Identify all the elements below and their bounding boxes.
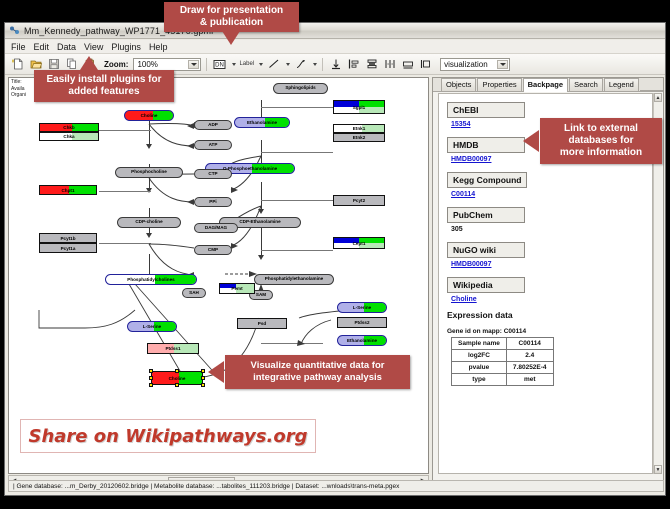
line-dropdown[interactable] [284, 63, 290, 66]
resize-handle-n[interactable] [175, 369, 179, 373]
db-wikipedia-header: Wikipedia [447, 277, 525, 293]
node-etnk1[interactable]: Etnk1 [333, 124, 385, 133]
pemt-swatch-blue [220, 284, 236, 288]
db-pubchem-value: 305 [451, 226, 644, 233]
tab-objects[interactable]: Objects [441, 78, 476, 91]
annotation-visualize-line1: Visualize quantitative data for [251, 360, 385, 372]
node-label: CDP-choline [135, 220, 162, 225]
expr-key: log2FC [452, 350, 507, 362]
node-label: PPi [209, 200, 216, 205]
ptdss1-swatch [174, 344, 198, 353]
edge [261, 182, 262, 212]
status-bar: | Gene database: ...m_Derby_20120602.bri… [8, 480, 664, 492]
node-label: SAH [189, 291, 199, 296]
table-row: type met [452, 374, 554, 386]
interaction-icon[interactable] [293, 57, 308, 72]
screenshot-root: Mm_Kennedy_pathway_WP1771_45176.gpml Fil… [0, 0, 670, 509]
side-panel-tabs[interactable]: Objects Properties Backpage Search Legen… [433, 78, 663, 92]
annotation-plugins-arrow [80, 56, 98, 70]
node-ppi[interactable]: PPi [194, 197, 232, 207]
node-cdp-choline[interactable]: CDP-choline [117, 217, 181, 228]
annotation-draw-arrow [222, 31, 240, 45]
db-kegg-link[interactable]: C00114 [451, 191, 644, 198]
annotation-share: Share on Wikipathways.org [20, 419, 316, 453]
annotation-links-line2: databases for [568, 135, 633, 147]
node-label: SAM [256, 293, 266, 298]
node-pcyt1b[interactable]: Pcyt1b [39, 233, 97, 243]
menu-item-plugins[interactable]: Plugins [111, 42, 141, 52]
tab-legend[interactable]: Legend [604, 78, 639, 91]
node-label: CDP-Ethanolamine [239, 220, 280, 225]
db-pubchem-header: PubChem [447, 207, 525, 223]
edge [261, 152, 333, 153]
chevron-down-icon[interactable] [188, 60, 199, 69]
expr-key: pvalue [452, 362, 507, 374]
chka-swatch [72, 133, 98, 140]
line-icon[interactable] [266, 57, 281, 72]
choline-selected-swatch [179, 372, 202, 384]
node-sgpl1[interactable]: Sgpl1 [333, 100, 385, 114]
pathway-meta: Title: Availa Organi [11, 79, 26, 99]
node-cept1[interactable]: Cept1 [333, 237, 385, 249]
edge [99, 243, 151, 244]
expr-key: Sample name [452, 338, 507, 350]
stack-vertical-icon[interactable] [364, 57, 379, 72]
svg-text:DN: DN [216, 62, 225, 68]
edge [99, 130, 151, 131]
node-label: CTP [208, 172, 217, 177]
zoom-label: Zoom: [104, 60, 128, 69]
annotation-draw-line2: & publication [200, 17, 263, 29]
cept1-swatch-blue [334, 238, 359, 243]
resize-handle-sw[interactable] [149, 383, 153, 387]
etnk1-swatch [362, 125, 385, 132]
db-chebi-header: ChEBI [447, 102, 525, 118]
node-pcyt2[interactable]: Pcyt2 [333, 195, 385, 206]
resize-handle-se[interactable] [201, 383, 205, 387]
node-phosphocholine[interactable]: Phosphocholine [115, 167, 183, 178]
chkb-swatch [72, 124, 98, 131]
meta-organism: Organi [11, 92, 26, 99]
annotation-links-line1: Link to external [564, 123, 638, 135]
node-label: Etnk2 [334, 136, 384, 141]
app-icon [9, 25, 20, 36]
annotation-visualize-arrow [208, 361, 224, 383]
gene-id-on-mapp: Gene id on mapp: C00114 [447, 328, 644, 335]
toolbar-separator-2 [322, 58, 323, 71]
node-ethanolamine-top[interactable]: Ethanolamine [234, 117, 290, 128]
db-nugo-header: NuGO wiki [447, 242, 525, 258]
annotation-plugins-line1: Easily install plugins for [46, 74, 161, 86]
node-lserine-left[interactable]: L-Serine [127, 321, 177, 332]
node-etnk2[interactable]: Etnk2 [333, 133, 385, 142]
align-left-icon[interactable] [346, 57, 361, 72]
status-text: | Gene database: ...m_Derby_20120602.bri… [13, 483, 399, 490]
ophospho-swatch [252, 164, 294, 173]
visualization-combo[interactable]: visualization [440, 58, 510, 71]
edge [261, 107, 333, 108]
menu-bar[interactable]: File Edit Data View Plugins Help [5, 40, 665, 54]
annotation-visualize: Visualize quantitative data for integrat… [225, 355, 410, 389]
tab-backpage[interactable]: Backpage [523, 78, 568, 92]
menu-item-data[interactable]: Data [57, 42, 76, 52]
node-label: Phosphatidylethanolamine [265, 277, 323, 282]
zoom-combo[interactable]: 100% [133, 58, 201, 71]
label-tool-text: Label [239, 61, 254, 67]
node-sah[interactable]: SAH [182, 288, 206, 298]
node-phosphatidylethanolamine[interactable]: Phosphatidylethanolamine [254, 274, 334, 285]
resize-handle-e[interactable] [201, 376, 205, 380]
lserine-right-swatch [364, 303, 386, 312]
node-label: ATP [209, 143, 218, 148]
node-phosphatidylcholines[interactable]: Phosphatidylcholines [105, 274, 197, 285]
node-sphingolipids[interactable]: Sphingolipids [273, 83, 328, 94]
expression-data-header: Expression data [447, 310, 644, 320]
menu-item-file[interactable]: File [11, 42, 26, 52]
same-height-icon[interactable] [418, 57, 433, 72]
node-ptdss1[interactable]: Ptdss1 [147, 343, 199, 354]
node-label: Pcyt2 [334, 199, 384, 204]
new-file-icon[interactable] [10, 57, 25, 72]
node-label: Pcyt1a [40, 247, 96, 252]
sgpl1-swatch-blue [334, 101, 359, 107]
toolbar-separator [206, 58, 207, 71]
chevron-down-icon-2[interactable] [497, 60, 508, 69]
sgpl1-swatch-lightgreen [359, 107, 384, 113]
menu-item-help[interactable]: Help [149, 42, 168, 52]
db-kegg-header: Kegg Compound [447, 172, 527, 188]
annotation-links-line3: more information [560, 147, 642, 159]
node-chpt1[interactable]: Chpt1 [39, 185, 97, 195]
node-label: Ptdss2 [338, 321, 386, 326]
node-ethanolamine-bottom[interactable]: Ethanolamine [337, 335, 387, 346]
menu-item-view[interactable]: View [84, 42, 103, 52]
tab-search[interactable]: Search [569, 78, 603, 91]
annotation-links-arrow [523, 130, 539, 152]
node-adp[interactable]: ADP [194, 120, 232, 130]
visualization-value: visualization [444, 60, 488, 69]
node-choline-top[interactable]: Choline [124, 110, 174, 121]
edge [261, 250, 333, 251]
node-label: DAG/MAG [205, 226, 227, 231]
db-wikipedia-link[interactable]: Choline [451, 296, 644, 303]
node-dagmag[interactable]: DAG/MAG [194, 223, 238, 233]
node-label: Pcyt1b [40, 237, 96, 242]
edge-arrow [146, 144, 152, 149]
edge [261, 200, 333, 201]
expr-value: 7.80252E-4 [506, 362, 553, 374]
lserine-left-swatch [154, 322, 176, 331]
tab-properties[interactable]: Properties [477, 78, 521, 91]
node-atp[interactable]: ATP [194, 140, 232, 150]
node-label: ADP [208, 123, 218, 128]
pemt-swatch-lightgreen [236, 284, 254, 293]
edge [261, 343, 323, 344]
ethanolamine-swatch-green [265, 118, 289, 127]
node-psd[interactable]: Psd [237, 318, 287, 329]
annotation-links: Link to external databases for more info… [540, 118, 662, 164]
expr-value: C00114 [506, 338, 553, 350]
node-pemt[interactable]: Pemt [219, 283, 255, 294]
db-nugo-link[interactable]: HMDB00097 [451, 261, 644, 268]
node-cmp[interactable]: CMP [194, 245, 232, 255]
selection-group[interactable]: Choline [151, 371, 203, 385]
edge-arrow [146, 233, 152, 238]
scroll-down-icon[interactable]: ▼ [654, 465, 662, 474]
label-dropdown[interactable] [257, 63, 263, 66]
edge-arrow [258, 255, 264, 260]
tabbar-filler [640, 89, 663, 91]
edge [99, 191, 151, 192]
node-ctp[interactable]: CTP [194, 169, 232, 179]
same-width-icon[interactable] [400, 57, 415, 72]
node-label: Phosphocholine [131, 170, 167, 175]
choline-swatch-green [153, 111, 173, 120]
resize-handle-ne[interactable] [201, 369, 205, 373]
node-chka[interactable]: Chka [39, 132, 99, 141]
zoom-value: 100% [137, 60, 157, 69]
cept1-swatch-lightgreen [359, 243, 384, 248]
resize-handle-w[interactable] [149, 376, 153, 380]
chpt1-swatch [69, 186, 96, 194]
edge [261, 228, 262, 258]
datanode-icon[interactable]: DN [212, 57, 227, 72]
edge-arrow [258, 209, 264, 214]
edge [149, 120, 150, 146]
node-label: Psd [238, 322, 286, 327]
ptdcholine-swatch [155, 275, 196, 284]
table-row: log2FC 2.4 [452, 350, 554, 362]
node-label: CMP [208, 248, 218, 253]
node-ptdss2[interactable]: Ptdss2 [337, 317, 387, 328]
expr-key: type [452, 374, 507, 386]
align-top-icon[interactable] [328, 57, 343, 72]
annotation-plugins-line2: added features [68, 86, 139, 98]
node-chkb[interactable]: Chkb [39, 123, 99, 132]
scroll-up-icon[interactable]: ▲ [654, 93, 662, 102]
annotation-draw: Draw for presentation & publication [164, 2, 299, 32]
node-label: Sphingolipids [285, 86, 315, 91]
annotation-visualize-line2: integrative pathway analysis [253, 372, 382, 384]
expression-table: Sample name C00114 log2FC 2.4 pvalue 7.8… [451, 337, 554, 386]
expr-value: met [506, 374, 553, 386]
resize-handle-s[interactable] [175, 383, 179, 387]
datanode-dropdown[interactable] [230, 63, 236, 66]
pathway-canvas[interactable]: Title: Availa Organi [8, 77, 429, 474]
table-row: pvalue 7.80252E-4 [452, 362, 554, 374]
table-row: Sample name C00114 [452, 338, 554, 350]
resize-handle-nw[interactable] [149, 369, 153, 373]
node-lserine-right[interactable]: L-Serine [337, 302, 387, 313]
menu-item-edit[interactable]: Edit [34, 42, 50, 52]
node-pcyt1a[interactable]: Pcyt1a [39, 243, 97, 253]
annotation-draw-line1: Draw for presentation [180, 5, 283, 17]
window-title-bar: Mm_Kennedy_pathway_WP1771_45176.gpml [5, 23, 665, 39]
interaction-dropdown[interactable] [311, 63, 317, 66]
ethanolamine-bottom-swatch [364, 336, 386, 345]
distribute-icon[interactable] [382, 57, 397, 72]
annotation-plugins: Easily install plugins for added feature… [34, 70, 174, 102]
expr-value: 2.4 [506, 350, 553, 362]
db-hmdb-header: HMDB [447, 137, 525, 153]
